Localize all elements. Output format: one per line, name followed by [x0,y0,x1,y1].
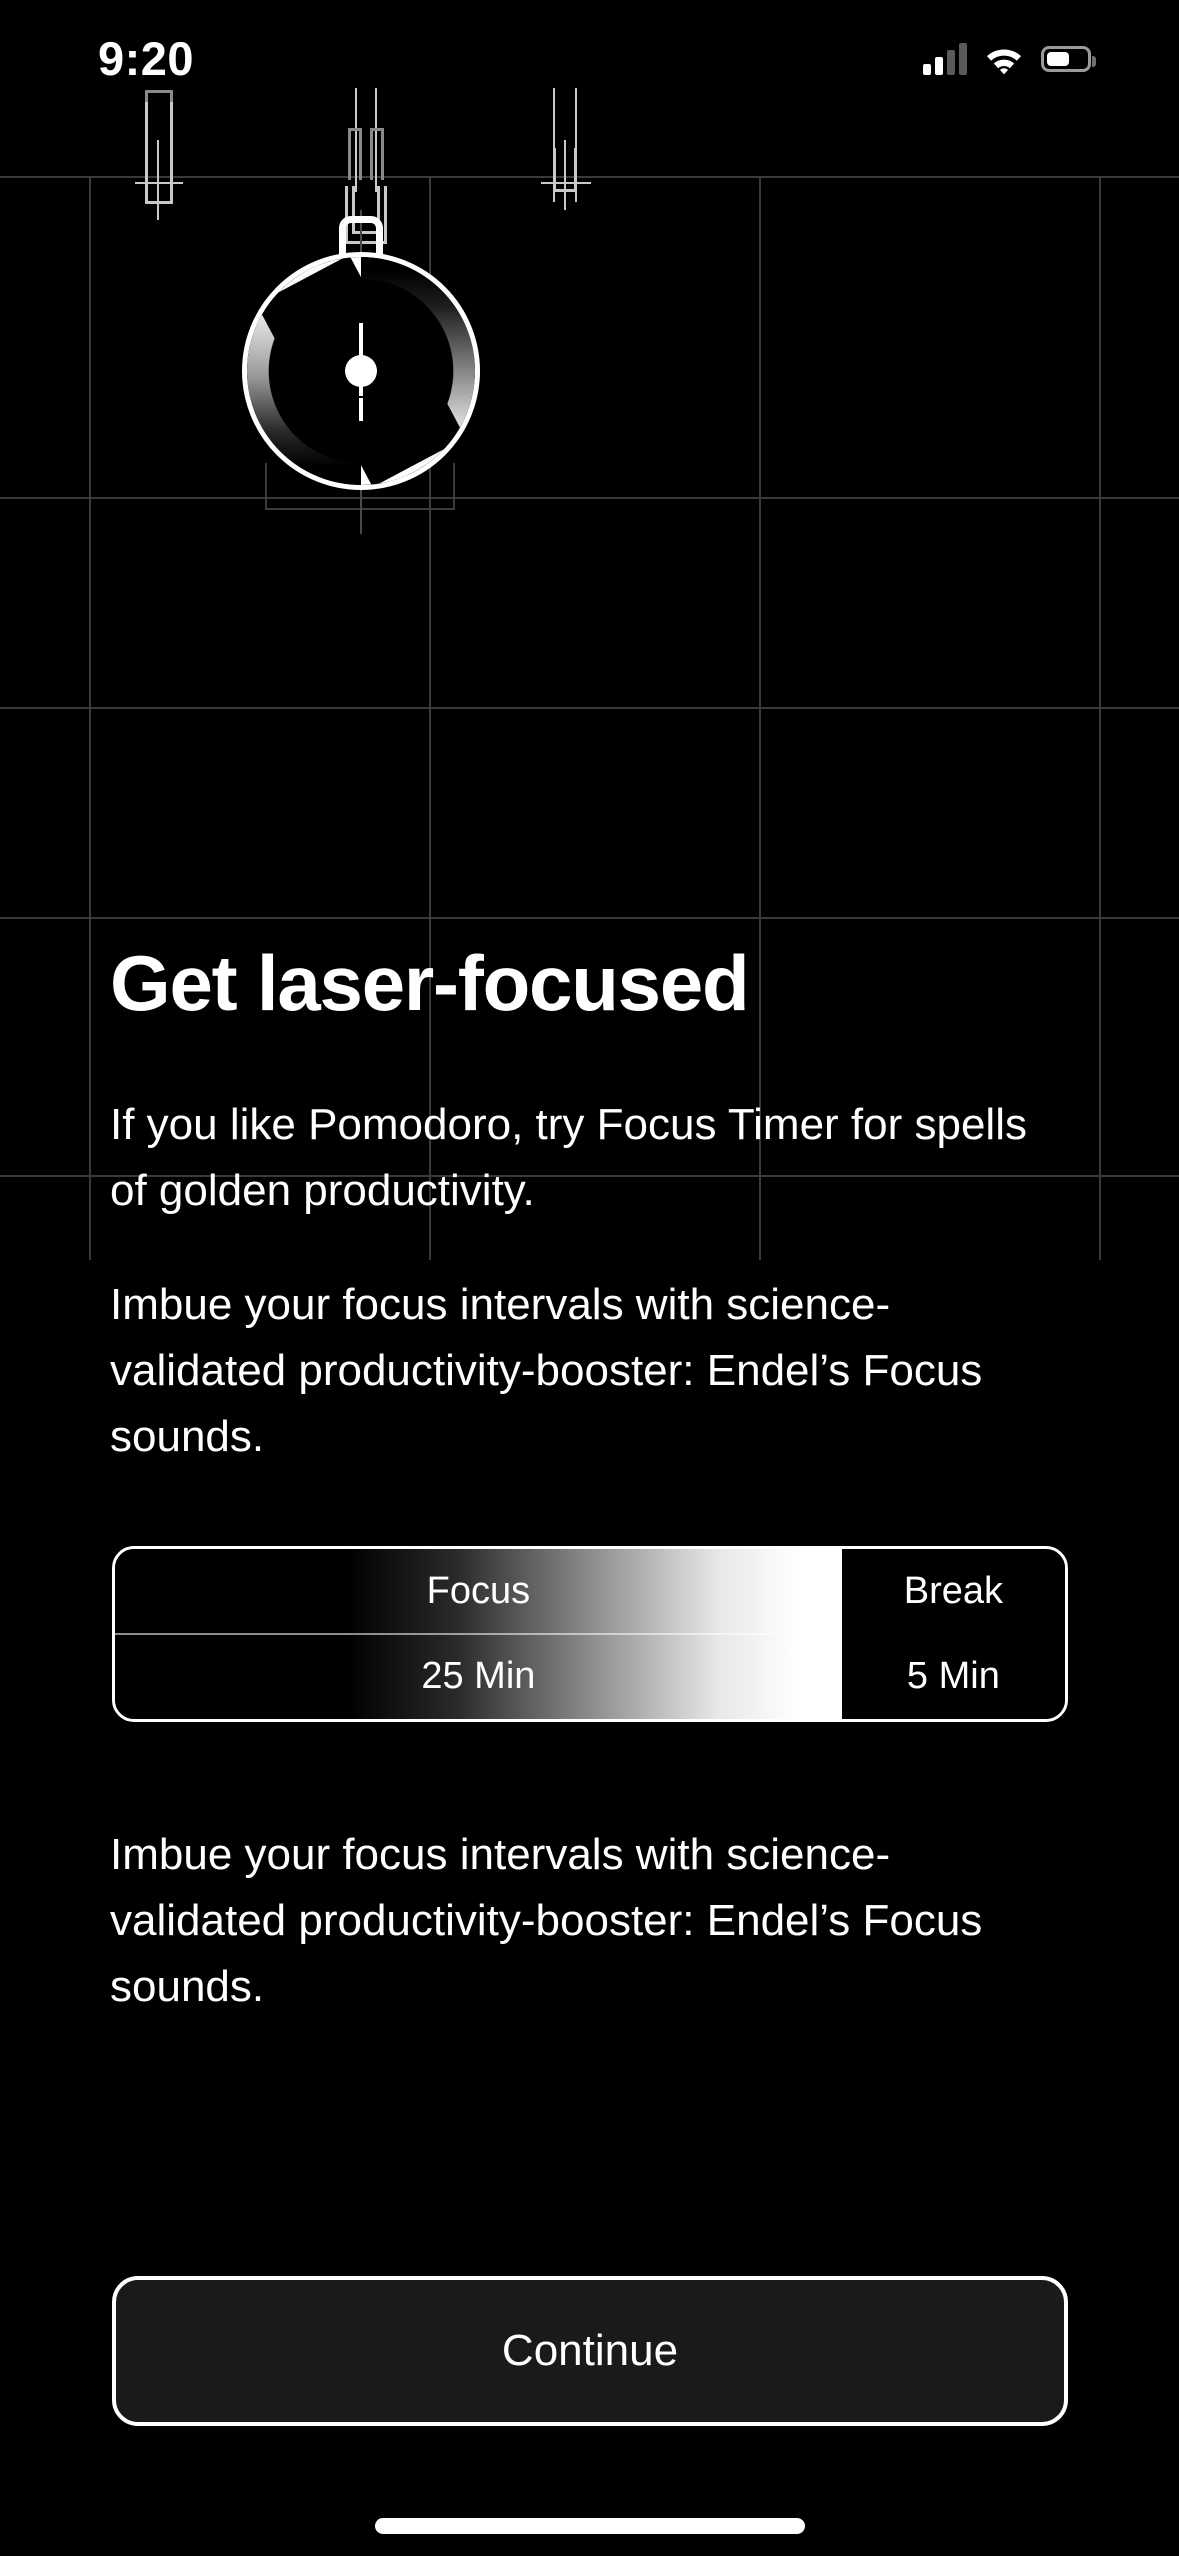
focus-label: Focus [115,1549,842,1634]
onboarding-screen: Get laser-focused If you like Pomodoro, … [0,0,1179,2556]
interval-card-header-row: Focus Break [115,1549,1065,1634]
interval-card-value-row: 25 Min 5 Min [115,1634,1065,1719]
description-paragraph: Imbue your focus intervals with science-… [110,1272,1040,1470]
intro-paragraph: If you like Pomodoro, try Focus Timer fo… [110,1092,1040,1224]
secondary-description-paragraph: Imbue your focus intervals with science-… [110,1822,1040,2020]
continue-button[interactable]: Continue [112,2276,1068,2426]
main-content: Get laser-focused If you like Pomodoro, … [0,0,1179,2556]
break-duration-value: 5 Min [842,1634,1065,1719]
page-title: Get laser-focused [110,944,1110,1022]
break-label: Break [842,1549,1065,1634]
focus-duration-value: 25 Min [115,1634,842,1719]
interval-card[interactable]: Focus Break 25 Min 5 Min [112,1546,1068,1722]
